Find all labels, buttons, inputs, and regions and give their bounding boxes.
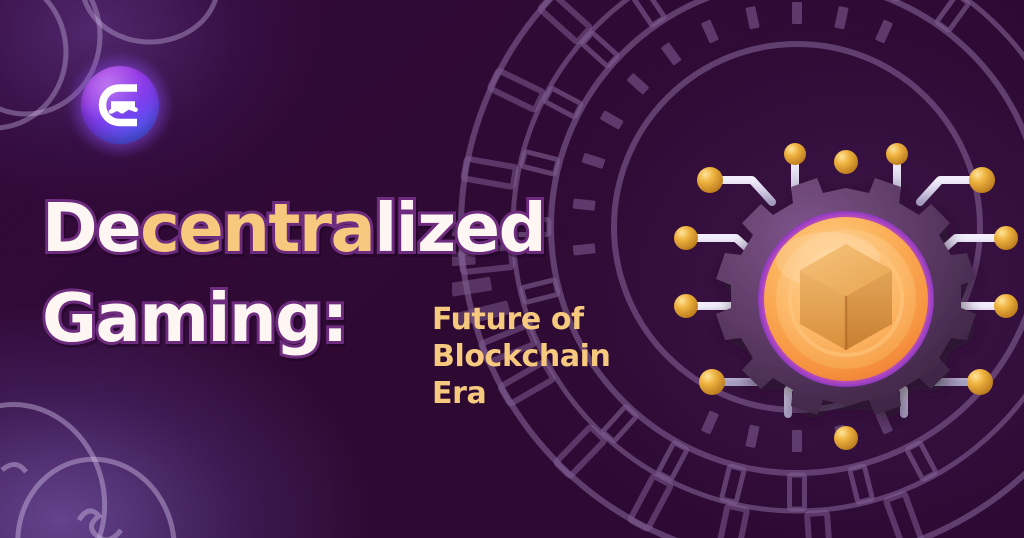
decentralized-gaming-banner: Decentralized Gaming: Future of Blockcha… (0, 0, 1024, 538)
subtitle-line-3: Era (432, 375, 682, 412)
headline-seg-de: De (42, 189, 140, 267)
page-subtitle: Future of Blockchain Era (432, 301, 682, 412)
subtitle-line-2: Blockchain (432, 338, 682, 375)
headline-seg-lized: lized (374, 189, 545, 267)
headline-seg-gaming: Gaming: (42, 279, 347, 357)
logo-letter-e-icon (81, 66, 159, 144)
headline-seg-centra: centra (140, 189, 374, 267)
crypto-brand-logo[interactable] (81, 66, 159, 144)
blockchain-gear-network-illustration (660, 128, 1024, 468)
headline-line-1: Decentralized (42, 188, 702, 268)
subtitle-line-1: Future of (432, 301, 682, 338)
